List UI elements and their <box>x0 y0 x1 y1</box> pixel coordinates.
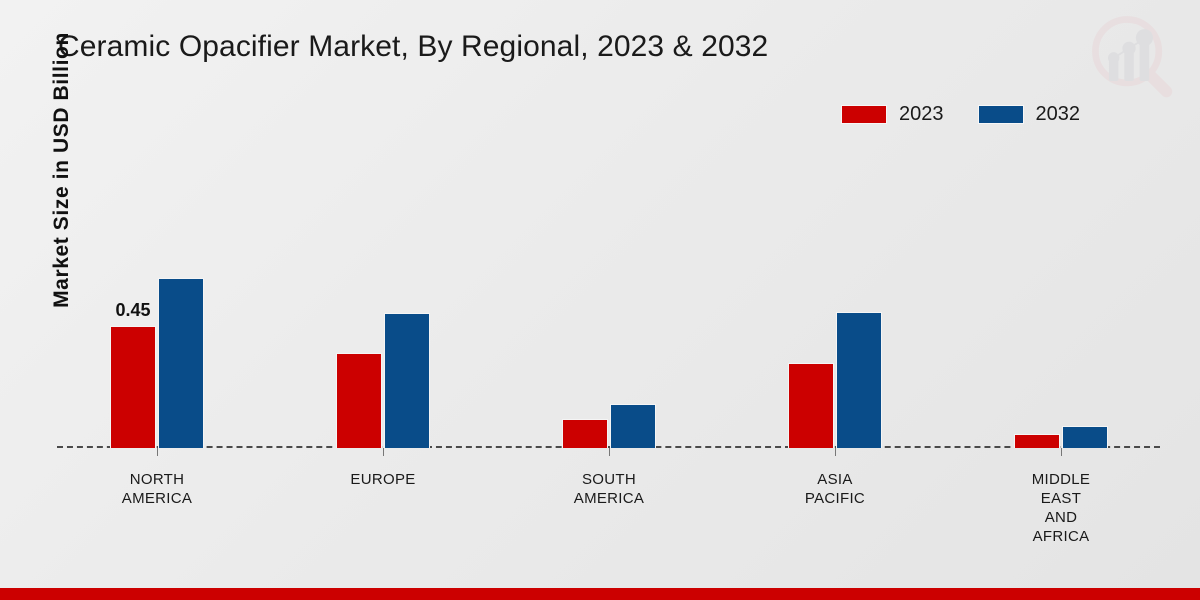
x-label-line: MIDDLE <box>976 470 1146 489</box>
legend-swatch-2023 <box>841 105 887 124</box>
bars-middle-east-and-africa <box>1014 150 1108 448</box>
x-label-line: SOUTH <box>524 470 694 489</box>
x-label-line: EUROPE <box>298 470 468 489</box>
legend-item-2032[interactable]: 2032 <box>978 103 1081 126</box>
bar-value-label: 0.45 <box>115 300 150 321</box>
bars-north-america: 0.45 <box>110 150 204 448</box>
chart-title: Ceramic Opacifier Market, By Regional, 2… <box>58 30 768 64</box>
bar-2023-europe[interactable] <box>336 353 382 448</box>
x-label-line: NORTH <box>72 470 242 489</box>
axis-tick <box>609 448 610 456</box>
company-watermark-logo <box>1082 8 1178 104</box>
bar-2023-asia-pacific[interactable] <box>788 363 834 448</box>
legend-item-2023[interactable]: 2023 <box>841 103 944 126</box>
bar-2032-asia-pacific[interactable] <box>836 312 882 448</box>
legend-swatch-2032 <box>978 105 1024 124</box>
x-label-line: ASIA <box>750 470 920 489</box>
bar-2032-south-america[interactable] <box>610 404 656 448</box>
x-label-line: AND <box>976 508 1146 527</box>
legend-label-2032: 2032 <box>1036 103 1081 126</box>
chart-legend: 2023 2032 <box>841 103 1080 126</box>
x-label-south-america: SOUTH AMERICA <box>524 470 694 508</box>
footer-accent-stripe <box>0 588 1200 600</box>
bar-2032-north-america[interactable] <box>158 278 204 448</box>
axis-tick <box>1061 448 1062 456</box>
x-label-line: AFRICA <box>976 527 1146 546</box>
bar-2023-middle-east-and-africa[interactable] <box>1014 434 1060 448</box>
x-label-europe: EUROPE <box>298 470 468 489</box>
plot-area: 0.45 NORTH AMERICA EUROPE <box>57 150 1160 448</box>
x-label-middle-east-and-africa: MIDDLE EAST AND AFRICA <box>976 470 1146 546</box>
x-label-line: PACIFIC <box>750 489 920 508</box>
legend-label-2023: 2023 <box>899 103 944 126</box>
x-label-line: AMERICA <box>72 489 242 508</box>
x-label-line: EAST <box>976 489 1146 508</box>
bars-europe <box>336 150 430 448</box>
bars-south-america <box>562 150 656 448</box>
x-label-north-america: NORTH AMERICA <box>72 470 242 508</box>
bars-asia-pacific <box>788 150 882 448</box>
x-label-line: AMERICA <box>524 489 694 508</box>
bar-2032-middle-east-and-africa[interactable] <box>1062 426 1108 448</box>
axis-tick <box>383 448 384 456</box>
axis-tick <box>157 448 158 456</box>
bar-2032-europe[interactable] <box>384 313 430 448</box>
bar-2023-north-america[interactable]: 0.45 <box>110 326 156 448</box>
chart-container: Ceramic Opacifier Market, By Regional, 2… <box>0 0 1200 600</box>
bar-2023-south-america[interactable] <box>562 419 608 448</box>
x-label-asia-pacific: ASIA PACIFIC <box>750 470 920 508</box>
axis-tick <box>835 448 836 456</box>
